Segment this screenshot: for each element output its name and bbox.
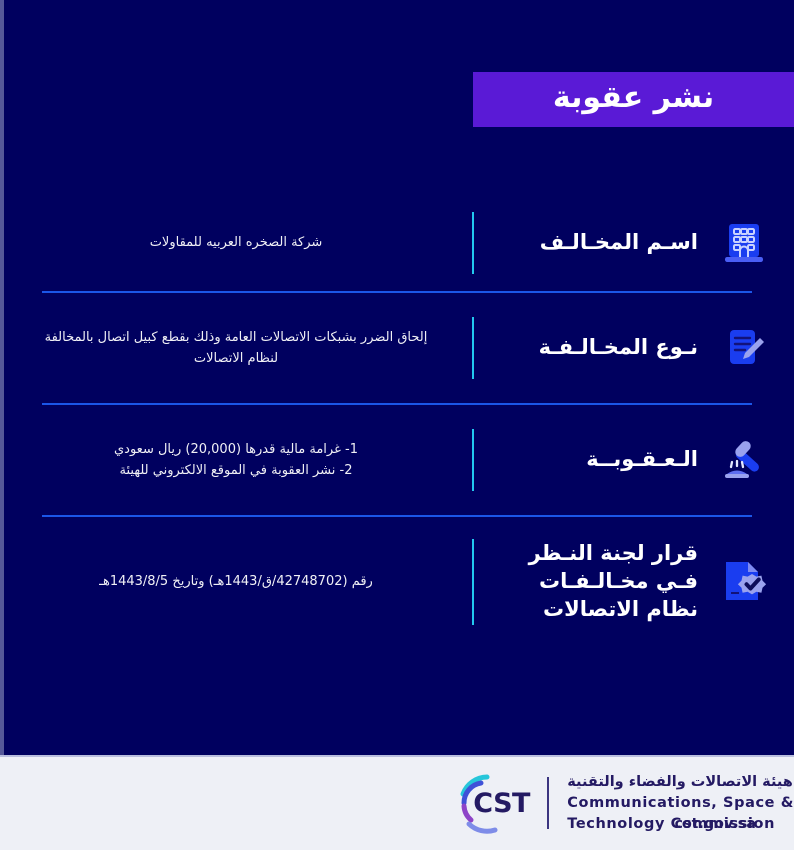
row-divider [472,429,474,491]
value-line: إلحاق الضرر بشبكات الاتصالات العامة وذلك… [24,327,448,348]
row-header: نـوع المخـالـفـة [474,320,794,376]
value-line: لنظام الاتصالات [24,348,448,369]
row-penalty: الـعـقـوبــة 1- غرامة مالية قدرها (20,00… [0,405,794,515]
gavel-icon [716,432,772,488]
row-violation-type: نـوع المخـالـفـة إلحاق الضرر بشبكات الات… [0,293,794,403]
value-line: 2- نشر العقوبة في الموقع الالكتروني للهي… [24,460,448,481]
row-committee-decision: قرار لجنة النـظر فـي مخـالـفـات نظام الا… [0,517,794,647]
cst-logo-mark: CST [457,772,529,834]
row-label: الـعـقـوبــة [474,446,698,474]
org-name-arabic: هيئة الاتصالات والفضاء والتقنية [567,772,794,793]
row-divider [472,539,474,625]
row-value: رقم (42748702/ق/1443هـ) وتاريخ 1443/8/5ه… [0,571,472,592]
website-url: cst.gov.sa [675,816,756,832]
row-header: قرار لجنة النـظر فـي مخـالـفـات نظام الا… [474,540,794,623]
row-label-line: قرار لجنة النـظر [474,540,698,568]
row-header: اسـم المخـالـف [474,215,794,271]
document-pen-icon [716,320,772,376]
row-value: إلحاق الضرر بشبكات الاتصالات العامة وذلك… [0,327,472,370]
footer: هيئة الاتصالات والفضاء والتقنية Communic… [0,755,794,850]
penalty-notice-poster: نشر عقوبة [0,0,794,850]
row-divider [472,212,474,274]
row-header: الـعـقـوبــة [474,432,794,488]
row-label-line: نظام الاتصالات [474,596,698,624]
row-label-line: فـي مخـالـفـات [474,568,698,596]
cst-wordmark: CST [473,788,530,819]
certificate-check-icon [716,554,772,610]
logo-divider [547,777,549,829]
row-label: قرار لجنة النـظر فـي مخـالـفـات نظام الا… [474,540,698,623]
value-line: رقم (42748702/ق/1443هـ) وتاريخ 1443/8/5ه… [24,571,448,592]
org-name-english-line1: Communications, Space & [567,793,794,814]
page-title: نشر عقوبة [553,83,714,116]
value-line: شركة الصخره العربيه للمقاولات [24,232,448,253]
details-list: اسـم المخـالـف شركة الصخره العربيه للمقا… [0,195,794,647]
value-line: 1- غرامة مالية قدرها (20,000) ريال سعودي [24,439,448,460]
row-violator-name: اسـم المخـالـف شركة الصخره العربيه للمقا… [0,195,794,291]
row-divider [472,317,474,379]
row-value: 1- غرامة مالية قدرها (20,000) ريال سعودي… [0,439,472,482]
header-banner: نشر عقوبة [473,72,794,127]
row-label: اسـم المخـالـف [474,229,698,257]
row-value: شركة الصخره العربيه للمقاولات [0,232,472,253]
building-icon [716,215,772,271]
row-label: نـوع المخـالـفـة [474,334,698,362]
